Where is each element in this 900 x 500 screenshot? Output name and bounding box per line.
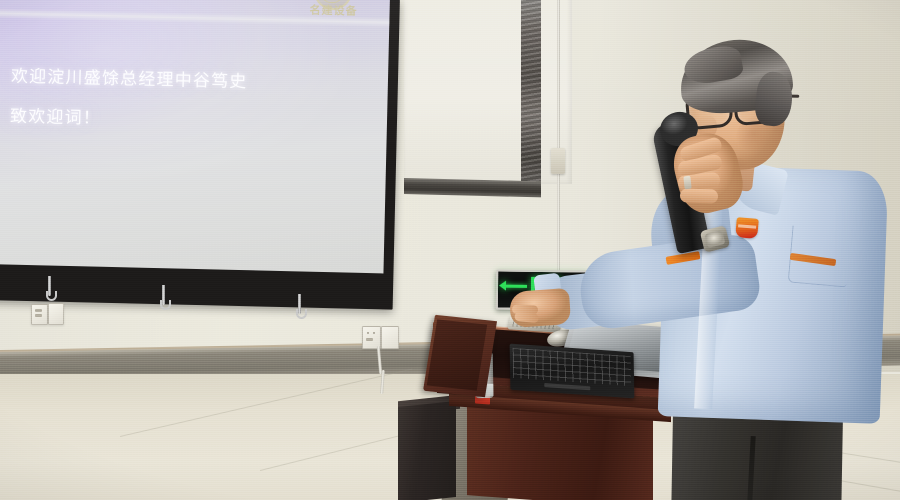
power-outlet-right-b[interactable] — [381, 326, 399, 349]
podium-column — [467, 405, 653, 500]
finger — [680, 188, 718, 203]
speaker-at-podium — [640, 38, 900, 500]
exit-arrow-left-icon — [505, 285, 527, 288]
projector-glow — [0, 0, 390, 273]
slide-logo: 名建设备 — [303, 0, 364, 31]
window-gap-texture — [521, 0, 541, 190]
roller-blind-bottom-bar — [404, 178, 541, 197]
switch-rocker-top — [35, 309, 42, 312]
computer-keyboard[interactable] — [510, 344, 635, 399]
conference-room-photo: 领导致辞 欢迎淀川盛馀总经理中谷笃史 致欢迎词！ 名建设备 — [0, 0, 900, 500]
screen-hook — [162, 285, 165, 305]
watch-face — [705, 230, 726, 248]
outlet-slot — [366, 338, 373, 341]
projection-screen: 领导致辞 欢迎淀川盛馀总经理中谷笃史 致欢迎词！ 名建设备 — [0, 0, 400, 310]
left-hand-on-podium — [509, 288, 571, 328]
outlet-pin — [367, 332, 369, 334]
screen-hook — [298, 294, 301, 314]
keyboard-spacebar — [544, 383, 590, 390]
blind-cord-clip[interactable] — [551, 148, 565, 174]
roller-blind[interactable] — [404, 0, 572, 184]
slide-line-2: 致欢迎词！ — [10, 105, 102, 131]
screen-hook — [48, 276, 51, 296]
outlet-pin — [373, 332, 375, 334]
projection-screen-surface: 领导致辞 欢迎淀川盛馀总经理中谷笃史 致欢迎词！ 名建设备 — [0, 0, 390, 273]
switch-plate-left-a[interactable] — [31, 304, 48, 325]
slide-logo-text: 名建设备 — [303, 1, 363, 18]
switch-rocker-bottom — [35, 314, 42, 317]
company-emblem — [735, 217, 759, 239]
switch-plate-left-b[interactable] — [48, 303, 64, 325]
podium-side-panel-face — [427, 319, 487, 390]
finger-ring — [683, 176, 691, 190]
keyboard-keys — [513, 348, 632, 386]
